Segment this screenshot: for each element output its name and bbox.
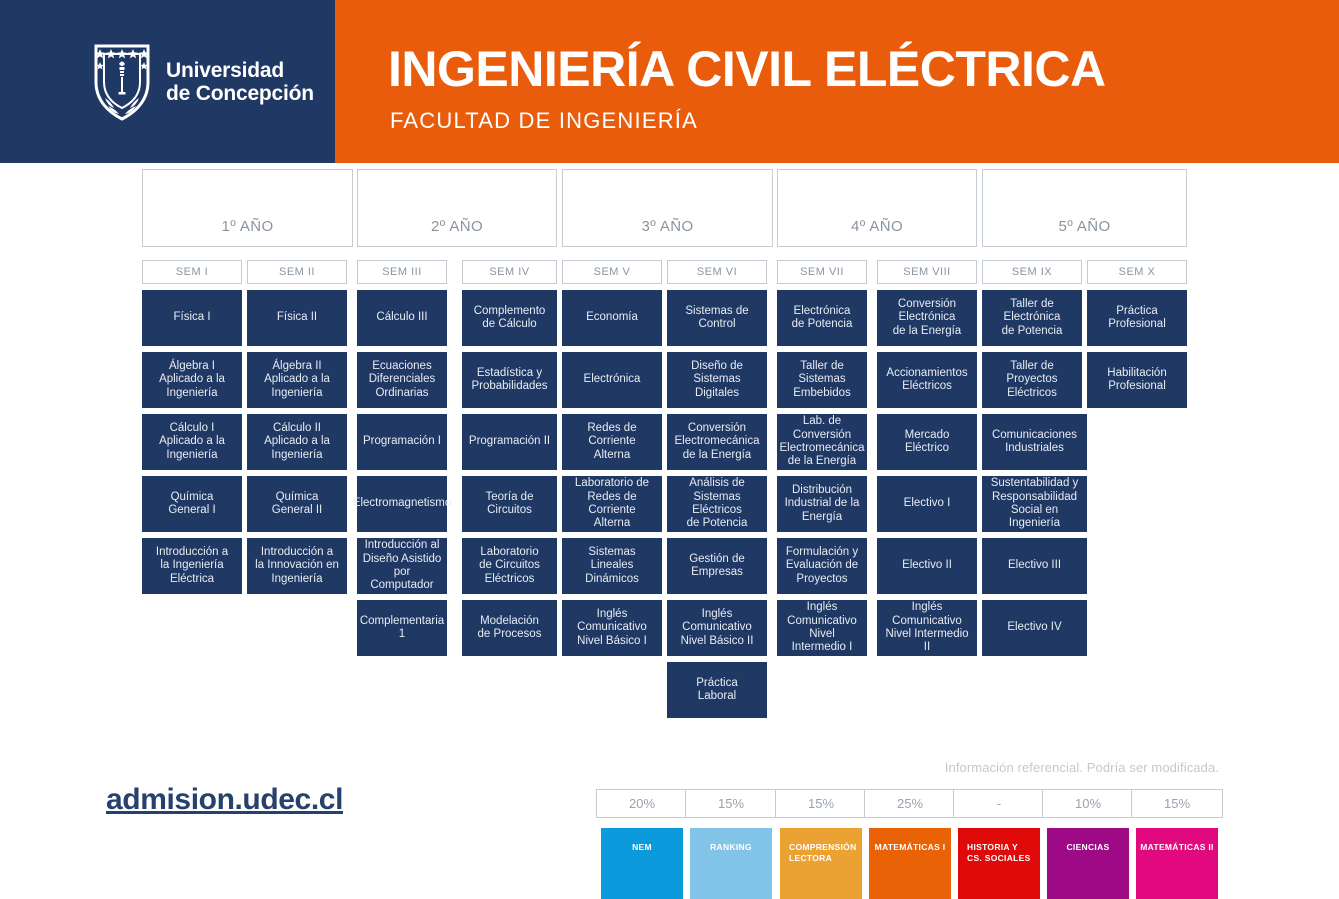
curriculum-grid: 1º AÑO2º AÑO3º AÑO4º AÑO5º AÑO SEM ISEM … — [0, 163, 1339, 763]
course-card[interactable]: Electromagnetismo — [357, 476, 447, 532]
faculty-subtitle: FACULTAD DE INGENIERÍA — [390, 108, 698, 134]
university-name-line1: Universidad — [166, 59, 314, 82]
admission-test-4: MATEMÁTICAS I — [869, 828, 951, 899]
year-header-5: 5º AÑO — [982, 169, 1187, 247]
course-label: Economía — [586, 311, 638, 324]
course-label: Gestión deEmpresas — [689, 553, 745, 580]
admission-test-5: HISTORIA YCS. SOCIALES — [958, 828, 1040, 899]
course-label: Electivo IV — [1007, 621, 1061, 634]
course-label: Complementode Cálculo — [474, 305, 546, 332]
course-card[interactable]: DistribuciónIndustrial de laEnergía — [777, 476, 867, 532]
malla-curricular-page: Universidad de Concepción INGENIERÍA CIV… — [0, 0, 1339, 899]
course-label: QuímicaGeneral II — [272, 491, 323, 518]
course-card[interactable]: Gestión deEmpresas — [667, 538, 767, 594]
admission-test-6: CIENCIAS — [1047, 828, 1129, 899]
course-card[interactable]: Cálculo IAplicado a laIngeniería — [142, 414, 242, 470]
course-label: InglésComunicativoNivel Básico I — [577, 608, 647, 648]
udec-shield-icon — [90, 42, 154, 122]
course-label: Programación I — [363, 435, 441, 448]
university-name: Universidad de Concepción — [166, 59, 314, 105]
semester-header-1: SEM I — [142, 260, 242, 284]
course-card[interactable]: Electivo II — [877, 538, 977, 594]
admission-weight-6: 10% — [1042, 789, 1134, 818]
course-card[interactable]: Laboratorio deRedes de CorrienteAlterna — [562, 476, 662, 532]
course-label: Álgebra IAplicado a laIngeniería — [159, 360, 225, 400]
course-label: Redes de CorrienteAlterna — [567, 422, 657, 462]
course-card[interactable]: Electrónica — [562, 352, 662, 408]
semester-header-4: SEM IV — [462, 260, 557, 284]
course-card[interactable]: Física I — [142, 290, 242, 346]
course-card[interactable]: Programación II — [462, 414, 557, 470]
page-header: Universidad de Concepción INGENIERÍA CIV… — [0, 0, 1339, 163]
course-label: Taller deElectrónicade Potencia — [1002, 298, 1063, 338]
course-card[interactable]: ConversiónElectrónicade la Energía — [877, 290, 977, 346]
course-card[interactable]: Complementode Cálculo — [462, 290, 557, 346]
course-label: InglésComunicativoNivel Básico II — [681, 608, 754, 648]
reference-note: Información referencial. Podría ser modi… — [933, 760, 1219, 775]
course-label: ConversiónElectromecánicade la Energía — [674, 422, 759, 462]
admission-weight-7: 15% — [1131, 789, 1223, 818]
course-card[interactable]: Mercado Eléctrico — [877, 414, 977, 470]
course-label: Cálculo IIAplicado a laIngeniería — [264, 422, 330, 462]
admission-test-1: NEM — [601, 828, 683, 899]
year-header-3: 3º AÑO — [562, 169, 773, 247]
course-card[interactable]: EcuacionesDiferencialesOrdinarias — [357, 352, 447, 408]
course-label: PrácticaProfesional — [1108, 305, 1166, 332]
course-label: Lab. de ConversiónElectromecánicade la E… — [780, 415, 865, 469]
semester-header-9: SEM IX — [982, 260, 1082, 284]
semester-header-5: SEM V — [562, 260, 662, 284]
course-card[interactable]: Economía — [562, 290, 662, 346]
course-label: Sustentabilidad yResponsabilidadSocial e… — [987, 477, 1082, 531]
program-title: INGENIERÍA CIVIL ELÉCTRICA — [388, 41, 1106, 97]
course-card[interactable]: InglésComunicativoNivel Básico I — [562, 600, 662, 656]
semester-header-3: SEM III — [357, 260, 447, 284]
course-card[interactable]: Análisis deSistemas Eléctricosde Potenci… — [667, 476, 767, 532]
university-name-line2: de Concepción — [166, 82, 314, 105]
year-header-1: 1º AÑO — [142, 169, 353, 247]
course-label: EcuacionesDiferencialesOrdinarias — [369, 360, 435, 400]
admission-site-link[interactable]: admision.udec.cl — [106, 783, 343, 817]
course-card[interactable]: PrácticaLaboral — [667, 662, 767, 718]
course-card[interactable]: Estadística yProbabilidades — [462, 352, 557, 408]
course-card[interactable]: Formulación yEvaluación deProyectos — [777, 538, 867, 594]
course-card[interactable]: Álgebra IIAplicado a laIngeniería — [247, 352, 347, 408]
course-label: Cálculo III — [376, 311, 427, 324]
course-card[interactable]: Electivo I — [877, 476, 977, 532]
course-card[interactable]: Complementaria 1 — [357, 600, 447, 656]
admission-weight-3: 15% — [775, 789, 867, 818]
course-card[interactable]: HabilitaciónProfesional — [1087, 352, 1187, 408]
admission-weight-4: 25% — [864, 789, 956, 818]
course-card[interactable]: Redes de CorrienteAlterna — [562, 414, 662, 470]
year-header-4: 4º AÑO — [777, 169, 977, 247]
course-card[interactable]: Programación I — [357, 414, 447, 470]
semester-header-6: SEM VI — [667, 260, 767, 284]
course-card[interactable]: QuímicaGeneral II — [247, 476, 347, 532]
course-label: Electivo I — [904, 497, 951, 510]
semester-header-7: SEM VII — [777, 260, 867, 284]
course-card[interactable]: InglésComunicativoNivel Intermedio I — [777, 600, 867, 656]
course-card[interactable]: Introducción ala Innovación enIngeniería — [247, 538, 347, 594]
course-card[interactable]: Sustentabilidad yResponsabilidadSocial e… — [982, 476, 1087, 532]
course-card[interactable]: Teoría deCircuitos — [462, 476, 557, 532]
course-card[interactable]: Modelaciónde Procesos — [462, 600, 557, 656]
course-card[interactable]: AccionamientosEléctricos — [877, 352, 977, 408]
course-label: Programación II — [469, 435, 550, 448]
course-label: InglésComunicativoNivel Intermedio I — [782, 601, 862, 655]
course-card[interactable]: Taller deElectrónicade Potencia — [982, 290, 1082, 346]
course-label: Laboratoriode CircuitosEléctricos — [479, 546, 540, 586]
course-label: Estadística yProbabilidades — [471, 367, 547, 394]
course-label: Mercado Eléctrico — [882, 429, 972, 456]
course-card[interactable]: Introducción ala IngenieríaEléctrica — [142, 538, 242, 594]
admission-weight-5: - — [953, 789, 1045, 818]
course-card[interactable]: Cálculo IIAplicado a laIngeniería — [247, 414, 347, 470]
course-card[interactable]: Taller de SistemasEmbebidos — [777, 352, 867, 408]
course-label: Electivo II — [902, 559, 952, 572]
course-card[interactable]: ComunicacionesIndustriales — [982, 414, 1087, 470]
course-label: ComunicacionesIndustriales — [992, 429, 1077, 456]
course-card[interactable]: Física II — [247, 290, 347, 346]
course-label: Diseño deSistemas Digitales — [672, 360, 762, 400]
course-label: Física I — [173, 311, 210, 324]
course-label: DistribuciónIndustrial de laEnergía — [785, 484, 860, 524]
course-label: Cálculo IAplicado a laIngeniería — [159, 422, 225, 462]
course-card[interactable]: Sistemas deControl — [667, 290, 767, 346]
course-label: Electivo III — [1008, 559, 1061, 572]
course-label: Análisis deSistemas Eléctricosde Potenci… — [672, 477, 762, 531]
course-label: Álgebra IIAplicado a laIngeniería — [264, 360, 330, 400]
course-card[interactable]: QuímicaGeneral I — [142, 476, 242, 532]
course-label: HabilitaciónProfesional — [1107, 367, 1166, 394]
course-card[interactable]: Introducción alDiseño Asistidopor Comput… — [357, 538, 447, 594]
course-label: Taller deProyectosEléctricos — [1006, 360, 1057, 400]
course-label: Introducción ala IngenieríaEléctrica — [156, 546, 228, 586]
course-label: Física II — [277, 311, 317, 324]
course-label: Introducción alDiseño Asistidopor Comput… — [362, 539, 442, 593]
course-card[interactable]: Electivo III — [982, 538, 1087, 594]
course-label: AccionamientosEléctricos — [886, 367, 967, 394]
year-header-row: 1º AÑO2º AÑO3º AÑO4º AÑO5º AÑO — [0, 169, 1339, 247]
course-card[interactable]: Laboratoriode CircuitosEléctricos — [462, 538, 557, 594]
course-card[interactable]: Electrónicade Potencia — [777, 290, 867, 346]
course-label: Laboratorio deRedes de CorrienteAlterna — [567, 477, 657, 531]
course-card[interactable]: Diseño deSistemas Digitales — [667, 352, 767, 408]
semester-header-10: SEM X — [1087, 260, 1187, 284]
course-label: Formulación yEvaluación deProyectos — [786, 546, 858, 586]
admission-weight-1: 20% — [596, 789, 688, 818]
course-label: ConversiónElectrónicade la Energía — [893, 298, 961, 338]
course-card[interactable]: Álgebra IAplicado a laIngeniería — [142, 352, 242, 408]
course-label: Electrónica — [584, 373, 641, 386]
course-label: QuímicaGeneral I — [168, 491, 215, 518]
course-card[interactable]: ConversiónElectromecánicade la Energía — [667, 414, 767, 470]
semester-header-row: SEM ISEM IISEM IIISEM IVSEM VSEM VISEM V… — [0, 260, 1339, 284]
course-label: Introducción ala Innovación enIngeniería — [255, 546, 339, 586]
course-card[interactable]: Electivo IV — [982, 600, 1087, 656]
admission-weight-2: 15% — [685, 789, 777, 818]
year-header-2: 2º AÑO — [357, 169, 557, 247]
admission-test-7: MATEMÁTICAS II — [1136, 828, 1218, 899]
semester-header-8: SEM VIII — [877, 260, 977, 284]
course-label: Modelaciónde Procesos — [478, 615, 542, 642]
course-label: Electrónicade Potencia — [792, 305, 853, 332]
admission-test-3: COMPRENSIÓNLECTORA — [780, 828, 862, 899]
course-card[interactable]: Cálculo III — [357, 290, 447, 346]
course-label: Taller de SistemasEmbebidos — [782, 360, 862, 400]
course-label: Complementaria 1 — [360, 615, 444, 642]
course-card[interactable]: Taller deProyectosEléctricos — [982, 352, 1082, 408]
course-label: Electromagnetismo — [353, 497, 451, 510]
course-card[interactable]: Lab. de ConversiónElectromecánicade la E… — [777, 414, 867, 470]
course-label: InglésComunicativoNivel Intermedio II — [882, 601, 972, 655]
course-card[interactable]: SistemasLinealesDinámicos — [562, 538, 662, 594]
course-label: SistemasLinealesDinámicos — [585, 546, 639, 586]
course-label: Sistemas deControl — [685, 305, 748, 332]
course-label: Teoría deCircuitos — [486, 491, 534, 518]
university-logo: Universidad de Concepción — [90, 42, 314, 122]
course-label: PrácticaLaboral — [696, 677, 738, 704]
admission-test-2: RANKING — [690, 828, 772, 899]
course-card[interactable]: InglésComunicativoNivel Intermedio II — [877, 600, 977, 656]
course-card[interactable]: PrácticaProfesional — [1087, 290, 1187, 346]
course-card[interactable]: InglésComunicativoNivel Básico II — [667, 600, 767, 656]
semester-header-2: SEM II — [247, 260, 347, 284]
